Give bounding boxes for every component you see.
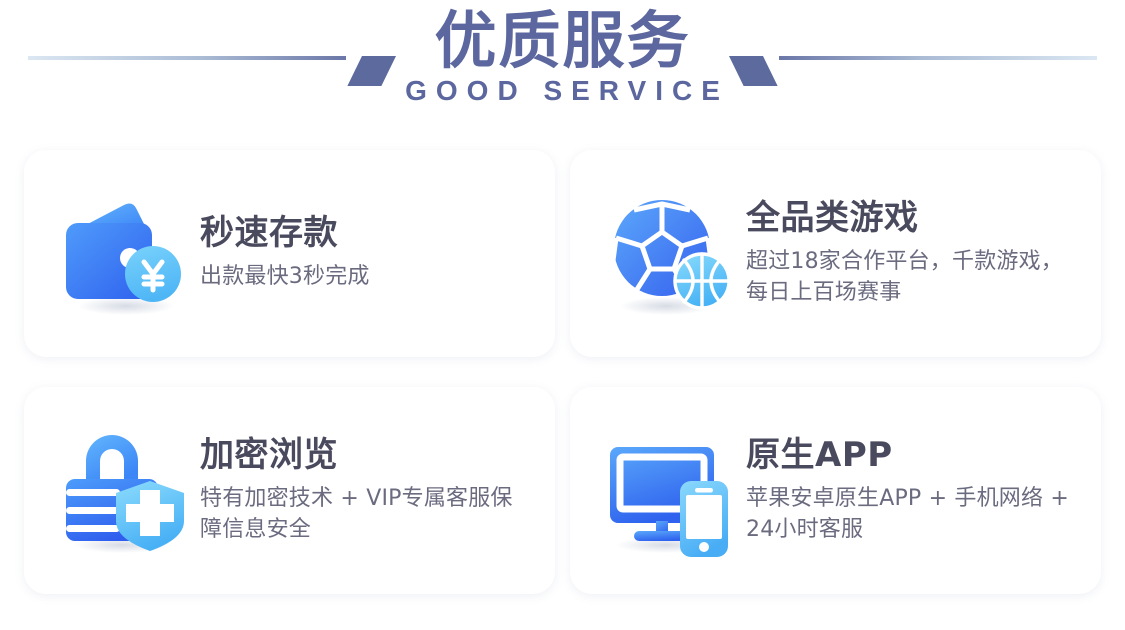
decoration-left-line [28, 56, 346, 60]
card-text: 全品类游戏 超过18家合作平台，千款游戏，每日上百场赛事 [736, 199, 1075, 309]
page-subtitle: GOOD SERVICE [396, 75, 729, 107]
good-service-panel: 优质服务 GOOD SERVICE [0, 0, 1125, 630]
monitor-phone-icon [604, 425, 736, 557]
feature-card[interactable]: 原生APP 苹果安卓原生APP + 手机网络 + 24小时客服 [570, 387, 1101, 594]
decoration-right-slab [729, 56, 778, 86]
card-description: 出款最快3秒完成 [200, 261, 529, 292]
decoration-left-slab [347, 56, 396, 86]
decoration-right-line [779, 56, 1097, 60]
feature-card[interactable]: 全品类游戏 超过18家合作平台，千款游戏，每日上百场赛事 [570, 150, 1101, 357]
card-title: 加密浏览 [200, 436, 529, 475]
card-text: 秒速存款 出款最快3秒完成 [190, 214, 529, 292]
feature-card[interactable]: 秒速存款 出款最快3秒完成 [24, 150, 555, 357]
card-description: 超过18家合作平台，千款游戏，每日上百场赛事 [746, 246, 1075, 308]
feature-card[interactable]: 加密浏览 特有加密技术 + VIP专属客服保障信息安全 [24, 387, 555, 594]
card-description: 苹果安卓原生APP + 手机网络 + 24小时客服 [746, 483, 1075, 545]
card-title: 全品类游戏 [746, 199, 1075, 238]
wallet-yen-icon [58, 188, 190, 320]
card-description: 特有加密技术 + VIP专属客服保障信息安全 [200, 483, 529, 545]
lock-shield-icon [58, 425, 190, 557]
decoration-right [707, 56, 1097, 88]
card-title: 秒速存款 [200, 214, 529, 253]
card-title: 原生APP [746, 436, 1075, 475]
card-text: 加密浏览 特有加密技术 + VIP专属客服保障信息安全 [190, 436, 529, 546]
title-block: 优质服务 GOOD SERVICE [396, 0, 729, 107]
page-title: 优质服务 [396, 8, 729, 73]
header: 优质服务 GOOD SERVICE [0, 0, 1125, 140]
feature-card-grid: 秒速存款 出款最快3秒完成 [24, 150, 1101, 594]
decoration-left [28, 56, 418, 88]
card-text: 原生APP 苹果安卓原生APP + 手机网络 + 24小时客服 [736, 436, 1075, 546]
soccer-basketball-icon [604, 188, 736, 320]
